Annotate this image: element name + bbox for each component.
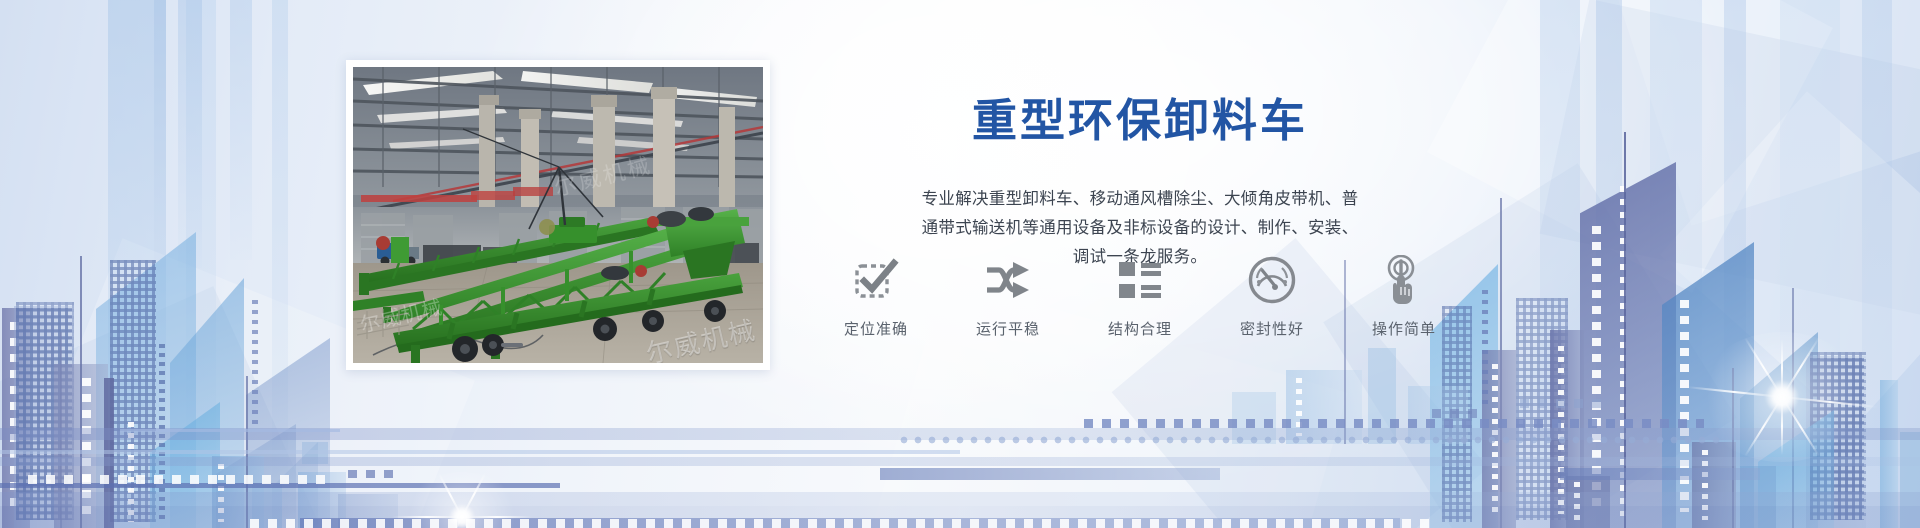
banner-content: 重型环保卸料车 专业解决重型卸料车、移动通风槽除尘、大倾角皮带机、普 通带式输送… (800, 96, 1480, 272)
feature-item-sealing[interactable]: 密封性好 (1216, 252, 1328, 339)
feature-item-easy-operation[interactable]: 操作简单 (1348, 252, 1460, 339)
feature-label: 操作简单 (1348, 318, 1460, 339)
product-photo: 尔威机械 尔威机械 尔威机械 (353, 67, 763, 363)
feature-label: 定位准确 (820, 318, 932, 339)
banner-title: 重型环保卸料车 (800, 96, 1480, 146)
feature-label: 密封性好 (1216, 318, 1328, 339)
checkbox-check-icon (820, 252, 932, 308)
feature-list: 定位准确 运行平稳 (820, 252, 1460, 339)
feature-label: 运行平稳 (952, 318, 1064, 339)
gauge-dial-icon (1216, 252, 1328, 308)
description-line-1: 专业解决重型卸料车、移动通风槽除尘、大倾角皮带机、普 (800, 184, 1480, 213)
hero-banner: 尔威机械 尔威机械 尔威机械 重型环保卸料车 专业解决重型卸料车、移动通风槽除尘… (0, 0, 1920, 528)
description-line-2: 通带式输送机等通用设备及非标设备的设计、制作、安装、 (800, 213, 1480, 242)
product-photo-card[interactable]: 尔威机械 尔威机械 尔威机械 (346, 60, 770, 370)
feature-item-positioning[interactable]: 定位准确 (820, 252, 932, 339)
shuffle-arrows-icon (952, 252, 1064, 308)
feature-item-structure[interactable]: 结构合理 (1084, 252, 1196, 339)
feature-item-smooth-operation[interactable]: 运行平稳 (952, 252, 1064, 339)
feature-label: 结构合理 (1084, 318, 1196, 339)
touch-hand-icon (1348, 252, 1460, 308)
list-layout-icon (1084, 252, 1196, 308)
